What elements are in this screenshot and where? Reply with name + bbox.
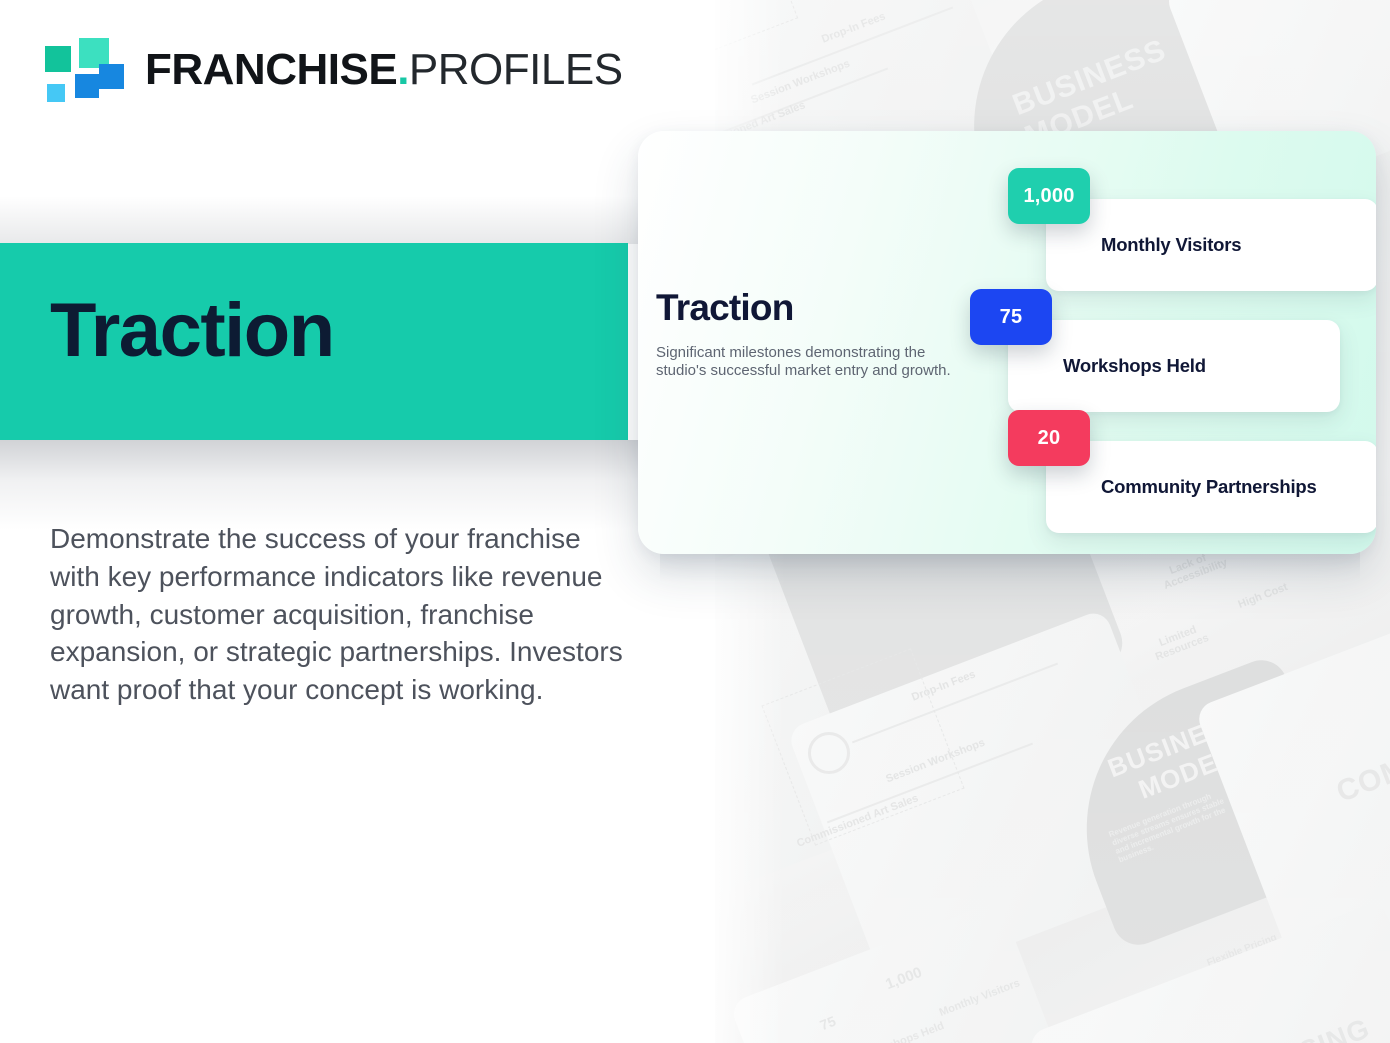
logo-mark-icon: [45, 38, 109, 102]
logo-square-5: [47, 84, 65, 102]
section-description: Demonstrate the success of your franchis…: [50, 520, 625, 709]
logo-square-4: [99, 64, 124, 89]
traction-card-heading-block: Traction Significant milestones demonstr…: [656, 289, 986, 381]
metrics-list: Monthly Visitors 1,000 Workshops Held 75…: [998, 131, 1376, 554]
metric-value-badge: 1,000: [1008, 168, 1090, 224]
banner-top-shadow: [0, 196, 660, 244]
brand-logo[interactable]: FRANCHISE.PROFILES: [45, 38, 623, 102]
section-banner: Traction: [0, 243, 628, 440]
metric-value-badge: 20: [1008, 410, 1090, 466]
traction-card-subtitle: Significant milestones demonstrating the…: [656, 344, 956, 381]
metric-card[interactable]: Monthly Visitors: [1046, 199, 1376, 291]
logo-word-franchise: FRANCHISE: [145, 45, 397, 94]
traction-card-title: Traction: [656, 289, 986, 326]
metric-label: Monthly Visitors: [1101, 234, 1241, 257]
banner-drop-shadow: [0, 440, 660, 530]
metric-label: Workshops Held: [1063, 355, 1206, 378]
logo-word-profiles: PROFILES: [409, 45, 623, 94]
metric-value-badge: 75: [970, 289, 1052, 345]
logo-square-3: [75, 74, 99, 98]
metric-label: Community Partnerships: [1101, 476, 1317, 499]
page-title: Traction: [50, 293, 334, 369]
metric-card[interactable]: Community Partnerships: [1046, 441, 1376, 533]
logo-dot: .: [397, 45, 409, 94]
metric-card[interactable]: Workshops Held: [1008, 320, 1340, 412]
logo-wordmark: FRANCHISE.PROFILES: [145, 48, 623, 92]
traction-preview-card[interactable]: Traction Significant milestones demonstr…: [638, 131, 1376, 554]
logo-square-1: [45, 46, 71, 72]
